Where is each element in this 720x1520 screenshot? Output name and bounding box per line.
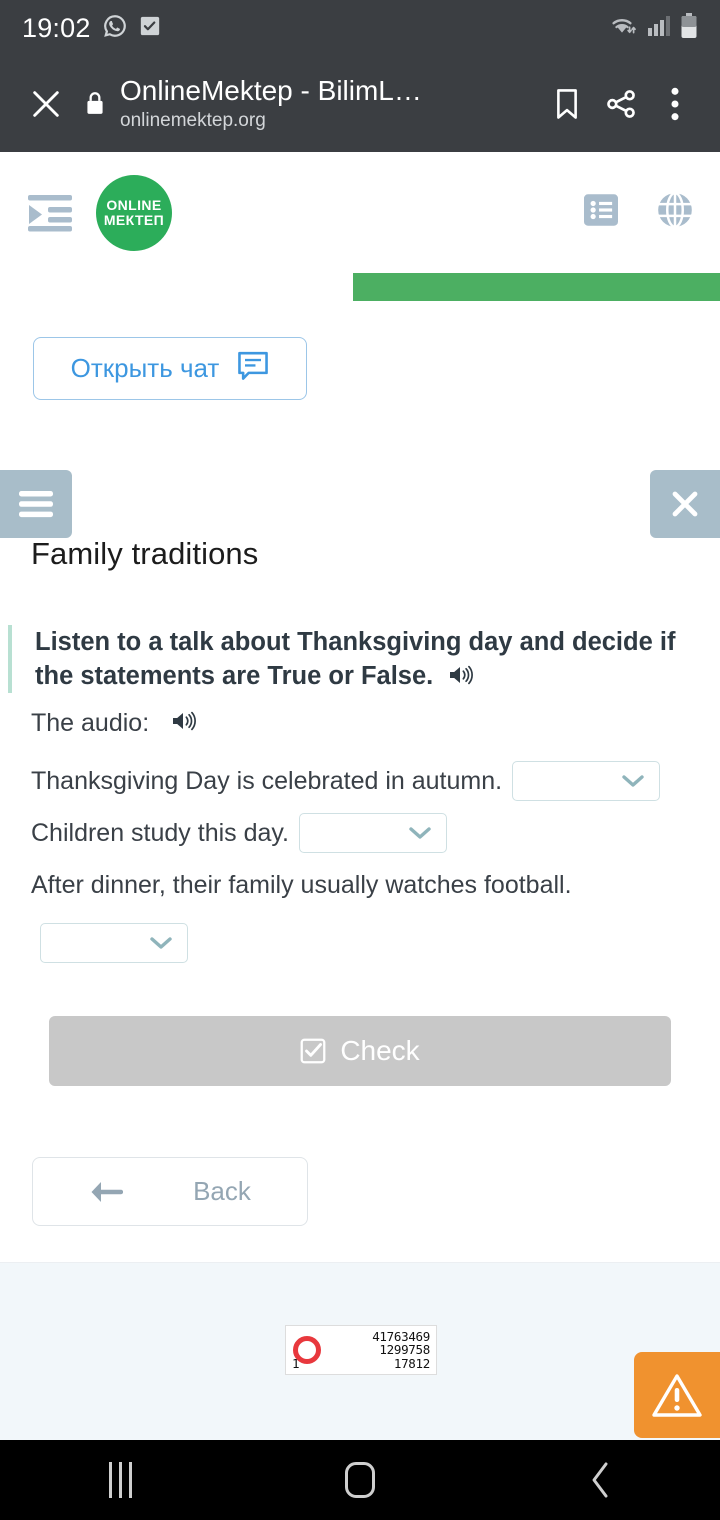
open-chat-button[interactable]: Открыть чат — [33, 337, 307, 400]
back-chevron-icon — [587, 1460, 613, 1500]
header-actions — [584, 191, 694, 234]
task-menu-button[interactable] — [0, 470, 72, 538]
back-button[interactable]: Back — [32, 1157, 308, 1226]
back-nav-button[interactable] — [480, 1440, 720, 1520]
brand-line-2: МЕКТЕП — [104, 213, 164, 228]
recents-icon — [109, 1462, 132, 1498]
task-prompt-text: Listen to a talk about Thanksgiving day … — [35, 628, 675, 690]
language-button[interactable] — [656, 191, 694, 234]
answer-select[interactable] — [40, 923, 188, 963]
url-block[interactable]: OnlineMektep - BilimL… onlinemektep.org — [84, 75, 540, 133]
overflow-menu-button[interactable] — [648, 77, 702, 131]
more-vertical-icon — [670, 87, 680, 121]
close-tab-button[interactable] — [18, 76, 74, 132]
statement-text: Children study this day. — [31, 813, 289, 853]
back-label: Back — [193, 1176, 251, 1207]
bookmark-button[interactable] — [540, 77, 594, 131]
whatsapp-icon — [102, 13, 128, 44]
cell-signal-icon — [647, 15, 671, 42]
checkbox-checked-icon — [300, 1038, 326, 1064]
counter-line-1: 41763469 — [372, 1330, 430, 1344]
check-label: Check — [340, 1035, 419, 1067]
progress-strip — [353, 273, 720, 301]
brand-logo[interactable]: ONLINE МЕКТЕП — [96, 175, 172, 251]
close-icon — [669, 488, 701, 520]
globe-icon — [656, 191, 694, 229]
chevron-down-icon — [408, 825, 432, 841]
check-button[interactable]: Check — [49, 1016, 671, 1086]
task-prompt: Listen to a talk about Thanksgiving day … — [8, 625, 698, 693]
close-icon — [29, 87, 63, 121]
statement-row: Thanksgiving Day is celebrated in autumn… — [31, 761, 701, 801]
battery-icon — [680, 13, 698, 44]
list-view-button[interactable] — [584, 193, 618, 232]
url-text-group: OnlineMektep - BilimL… onlinemektep.org — [120, 75, 422, 133]
statement-text: After dinner, their family usually watch… — [31, 865, 572, 905]
list-view-icon — [584, 193, 618, 227]
arrow-left-icon — [89, 1179, 123, 1205]
prompt-speaker-icon[interactable] — [448, 664, 474, 691]
status-bar-left: 19:02 — [22, 13, 161, 44]
status-clock: 19:02 — [22, 13, 91, 44]
page-host: onlinemektep.org — [120, 109, 422, 133]
share-icon — [605, 88, 637, 120]
chevron-down-icon — [149, 935, 173, 951]
status-bar-right — [608, 13, 698, 44]
audio-label: The audio: — [31, 709, 149, 738]
counter-rank: 1 — [292, 1356, 300, 1371]
statement-row: Children study this day. — [31, 813, 701, 853]
counter-line-2: 1299758 — [372, 1343, 430, 1357]
task-close-button[interactable] — [650, 470, 720, 538]
counter-line-3: 17812 — [372, 1357, 430, 1371]
android-nav-bar — [0, 1440, 720, 1520]
checkbox-icon — [139, 15, 161, 42]
home-icon — [345, 1462, 375, 1498]
answer-select[interactable] — [512, 761, 660, 801]
wifi-icon — [608, 14, 638, 43]
statement-row: After dinner, their family usually watch… — [31, 865, 701, 963]
open-chat-label: Открыть чат — [71, 353, 220, 384]
sidebar-toggle-button[interactable] — [26, 189, 74, 237]
android-status-bar: 19:02 — [0, 0, 720, 56]
home-button[interactable] — [240, 1440, 480, 1520]
hamburger-icon — [17, 488, 55, 520]
audio-speaker-icon[interactable] — [171, 710, 197, 737]
recents-button[interactable] — [0, 1440, 240, 1520]
brand-line-1: ONLINE — [106, 198, 161, 213]
chevron-down-icon — [621, 773, 645, 789]
audio-row: The audio: — [31, 709, 197, 738]
visit-counter-widget[interactable]: 41763469 1299758 17812 1 — [285, 1325, 437, 1375]
counter-numbers: 41763469 1299758 17812 — [372, 1330, 430, 1371]
lock-icon — [84, 90, 106, 121]
warning-fab-button[interactable] — [634, 1352, 720, 1438]
phone-screen: 19:02 — [0, 0, 720, 1520]
browser-toolbar: OnlineMektep - BilimL… onlinemektep.org — [0, 56, 720, 152]
page-title: OnlineMektep - BilimL… — [120, 75, 422, 107]
share-button[interactable] — [594, 77, 648, 131]
answer-select[interactable] — [299, 813, 447, 853]
chat-bubble-icon — [237, 350, 269, 387]
site-header: ONLINE МЕКТЕП — [0, 152, 720, 273]
lesson-title: Family traditions — [31, 536, 258, 572]
statement-text: Thanksgiving Day is celebrated in autumn… — [31, 761, 502, 801]
indent-list-icon — [27, 193, 73, 233]
bookmark-icon — [552, 88, 582, 120]
warning-triangle-icon — [651, 1371, 703, 1419]
